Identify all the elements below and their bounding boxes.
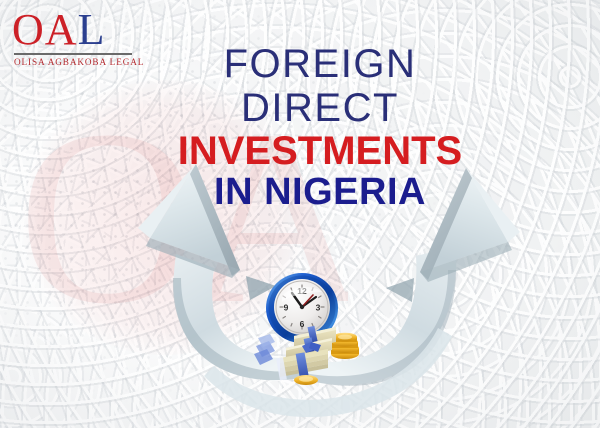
clock-numeral-6: 6 <box>300 319 305 329</box>
title-line-direct: DIRECT <box>40 88 600 128</box>
title-line-investments: INVESTMENTS <box>40 131 600 171</box>
poster-canvas: OAL OAL OLISA AGBAKOBA LEGAL FOREIGN DIR… <box>0 0 600 428</box>
clock-numeral-3: 3 <box>316 303 321 313</box>
title-line-foreign: FOREIGN <box>40 44 600 84</box>
cash-and-coins <box>254 326 359 385</box>
scattered-notes <box>254 334 275 365</box>
loose-coin <box>294 375 318 385</box>
title-line-in-nigeria: IN NIGERIA <box>40 173 600 211</box>
clock-and-money-illustration: 12 3 6 9 <box>250 262 370 387</box>
clock-numeral-9: 9 <box>284 303 289 313</box>
page-title: FOREIGN DIRECT INVESTMENTS IN NIGERIA <box>0 44 600 211</box>
